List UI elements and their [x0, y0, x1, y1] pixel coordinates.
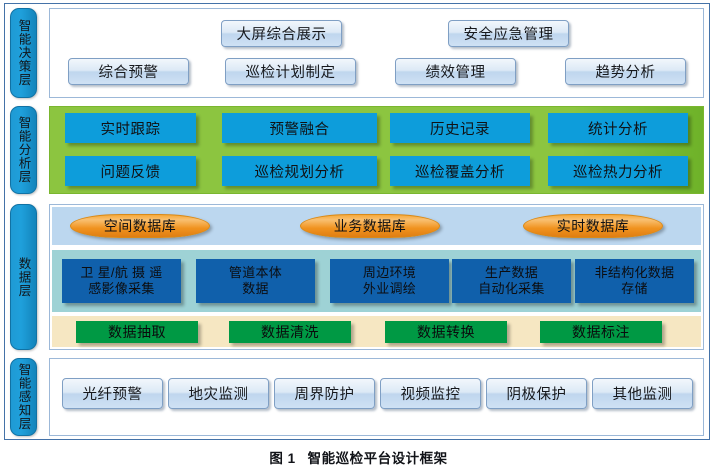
decision-item-label: 绩效管理	[426, 61, 486, 82]
data-source-label: 周边环境 外业调绘	[363, 265, 416, 297]
decision-item-label: 大屏综合展示	[237, 23, 327, 44]
decision-item-label: 巡检计划制定	[246, 61, 336, 82]
etl-step-label: 数据抽取	[108, 322, 166, 342]
analysis-item-label: 问题反馈	[101, 161, 161, 182]
data-source-surrounding-environment-survey[interactable]: 周边环境 外业调绘	[330, 259, 449, 303]
etl-step-clean[interactable]: 数据清洗	[229, 321, 351, 343]
perception-item-label: 周界防护	[295, 383, 355, 404]
etl-step-label: 数据转换	[417, 322, 475, 342]
figure-caption-title: 智能巡检平台设计框架	[308, 451, 448, 466]
analysis-item-label: 统计分析	[588, 118, 648, 139]
data-source-label: 管道本体 数据	[229, 265, 282, 297]
analysis-item-statistical-analysis[interactable]: 统计分析	[548, 113, 688, 143]
analysis-item-inspection-heatmap-analysis[interactable]: 巡检热力分析	[548, 156, 688, 186]
etl-step-extract[interactable]: 数据抽取	[76, 321, 198, 343]
data-source-production-automated-collection[interactable]: 生产数据 自动化采集	[452, 259, 571, 303]
data-source-label: 卫 星/航 摄 遥 感影像采集	[80, 265, 162, 297]
sidebar-tab-decision-label: 智能决策层	[17, 19, 31, 87]
database-spatial[interactable]: 空间数据库	[70, 214, 210, 238]
decision-item-label: 安全应急管理	[464, 23, 554, 44]
database-label: 空间数据库	[104, 216, 177, 236]
analysis-item-label: 实时跟踪	[101, 118, 161, 139]
analysis-item-inspection-planning-analysis[interactable]: 巡检规划分析	[222, 156, 377, 186]
perception-item-label: 地灾监测	[189, 383, 249, 404]
data-source-label: 非结构化数据 存储	[595, 265, 675, 297]
decision-item-performance-management[interactable]: 绩效管理	[395, 58, 516, 85]
perception-item-cathodic-protection[interactable]: 阴极保护	[486, 378, 587, 409]
sidebar-tab-analysis[interactable]: 智能分析层	[10, 106, 37, 194]
analysis-item-warning-fusion[interactable]: 预警融合	[222, 113, 377, 143]
etl-step-transform[interactable]: 数据转换	[385, 321, 507, 343]
decision-item-trend-analysis[interactable]: 趋势分析	[565, 58, 686, 85]
decision-item-comprehensive-warning[interactable]: 综合预警	[68, 58, 189, 85]
etl-step-label: 数据标注	[572, 322, 630, 342]
figure-caption: 图 1智能巡检平台设计框架	[0, 447, 717, 467]
perception-item-fiber-optic-warning[interactable]: 光纤预警	[62, 378, 163, 409]
perception-item-label: 其他监测	[613, 383, 673, 404]
analysis-item-label: 历史记录	[430, 118, 490, 139]
etl-step-annotate[interactable]: 数据标注	[540, 321, 662, 343]
data-source-label: 生产数据 自动化采集	[478, 265, 545, 297]
decision-item-label: 趋势分析	[596, 61, 656, 82]
analysis-item-history-record[interactable]: 历史记录	[390, 113, 530, 143]
data-source-unstructured-data-storage[interactable]: 非结构化数据 存储	[575, 259, 694, 303]
sidebar-tab-analysis-label: 智能分析层	[17, 116, 31, 184]
database-label: 实时数据库	[557, 216, 630, 236]
sidebar-tab-perception-label: 智能感知层	[17, 363, 31, 431]
sidebar-tab-data[interactable]: 数据层	[10, 204, 37, 350]
sidebar-tab-decision[interactable]: 智能决策层	[10, 8, 37, 98]
architecture-diagram: 智能决策层 智能分析层 数据层 智能感知层 大屏综合展示 安全应急管理 综合预警…	[0, 0, 717, 471]
analysis-item-realtime-tracking[interactable]: 实时跟踪	[65, 113, 196, 143]
data-source-pipeline-body-data[interactable]: 管道本体 数据	[196, 259, 315, 303]
analysis-item-label: 预警融合	[270, 118, 330, 139]
perception-item-perimeter-protection[interactable]: 周界防护	[274, 378, 375, 409]
data-source-satellite-aerial-imagery[interactable]: 卫 星/航 摄 遥 感影像采集	[62, 259, 181, 303]
analysis-item-label: 巡检规划分析	[255, 161, 345, 182]
figure-caption-label: 图 1	[269, 451, 295, 466]
database-label: 业务数据库	[334, 216, 407, 236]
etl-step-label: 数据清洗	[261, 322, 319, 342]
perception-item-label: 光纤预警	[83, 383, 143, 404]
decision-item-safety-emergency-management[interactable]: 安全应急管理	[448, 20, 569, 47]
analysis-item-issue-feedback[interactable]: 问题反馈	[65, 156, 196, 186]
analysis-item-inspection-coverage-analysis[interactable]: 巡检覆盖分析	[390, 156, 530, 186]
perception-item-video-surveillance[interactable]: 视频监控	[380, 378, 481, 409]
perception-item-other-monitoring[interactable]: 其他监测	[592, 378, 693, 409]
perception-item-label: 视频监控	[401, 383, 461, 404]
database-business[interactable]: 业务数据库	[300, 214, 440, 238]
analysis-item-label: 巡检热力分析	[573, 161, 663, 182]
perception-item-geohazard-monitoring[interactable]: 地灾监测	[168, 378, 269, 409]
decision-item-inspection-plan[interactable]: 巡检计划制定	[225, 58, 356, 85]
analysis-item-label: 巡检覆盖分析	[415, 161, 505, 182]
decision-item-big-screen-display[interactable]: 大屏综合展示	[221, 20, 342, 47]
database-realtime[interactable]: 实时数据库	[523, 214, 663, 238]
sidebar-tab-perception[interactable]: 智能感知层	[10, 358, 37, 436]
perception-item-label: 阴极保护	[507, 383, 567, 404]
decision-item-label: 综合预警	[99, 61, 159, 82]
sidebar-tab-data-label: 数据层	[17, 257, 31, 298]
